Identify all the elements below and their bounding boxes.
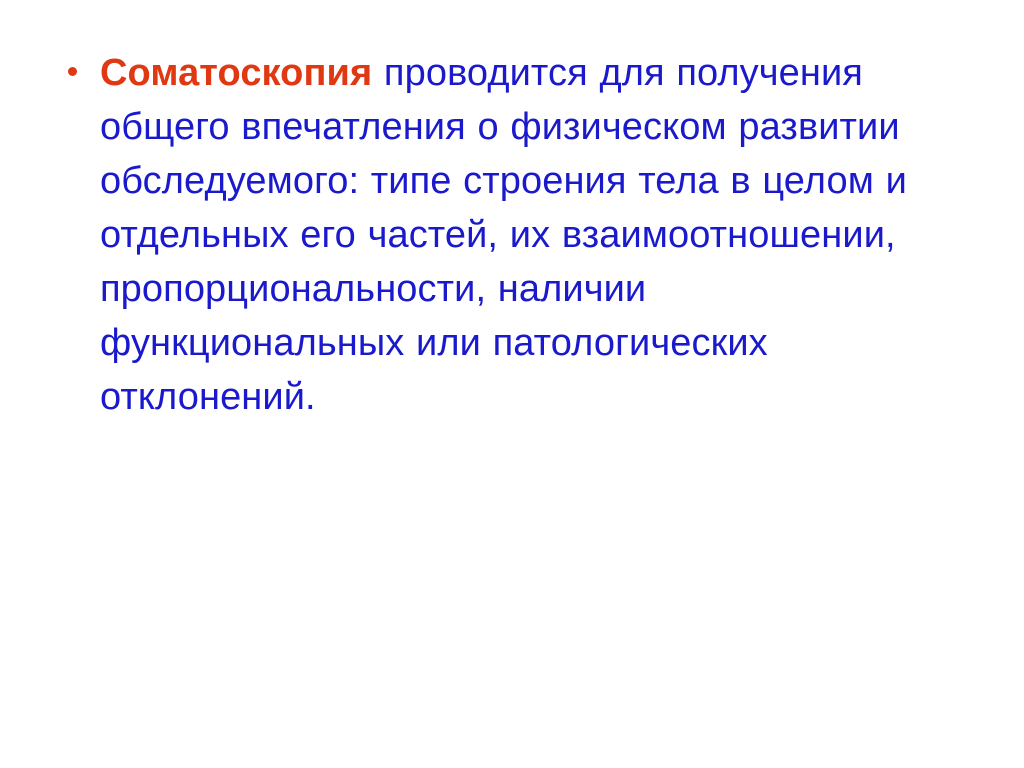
paragraph-body-text: проводится для получения общего впечатле… [100,52,907,418]
highlighted-term: Соматоскопия [100,52,372,94]
slide-content-placeholder: Соматоскопия проводится для получения об… [56,46,956,424]
bullet-dot-icon [68,67,77,76]
presentation-slide: Соматоскопия проводится для получения об… [0,0,1024,768]
bullet-paragraph: Соматоскопия проводится для получения об… [56,46,956,424]
